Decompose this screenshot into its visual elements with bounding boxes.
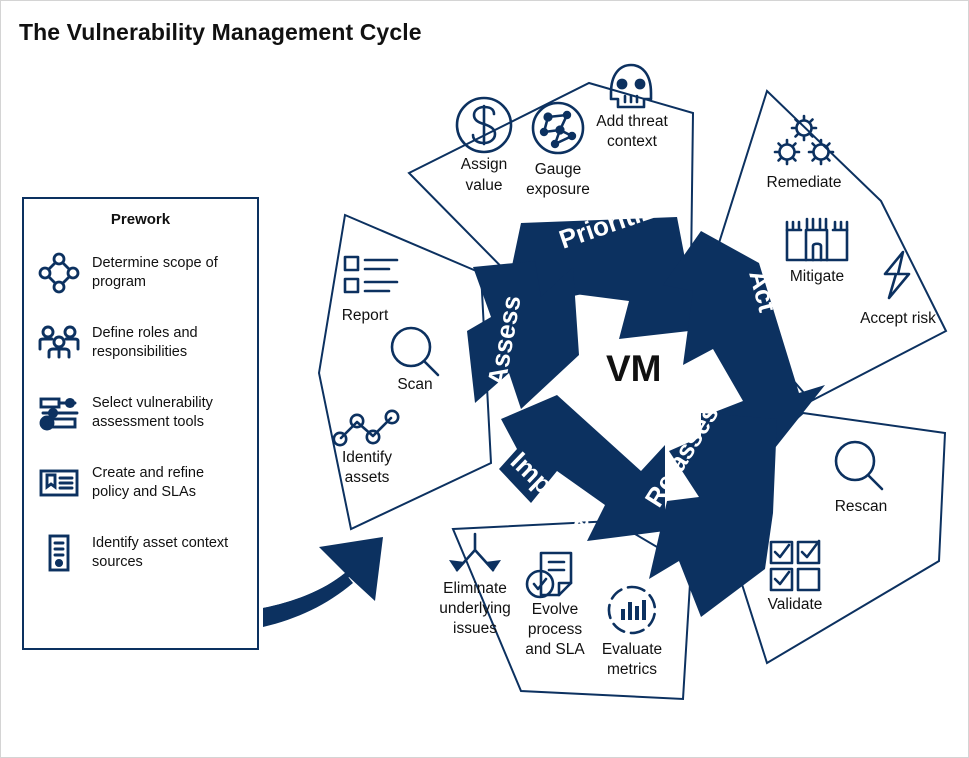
label-assign-value-line2: value bbox=[465, 177, 502, 194]
label-identify-assets-line1: Identify bbox=[342, 449, 392, 466]
prework-item-label: Determine scope of program bbox=[92, 254, 242, 292]
label-eliminate-line1: Eliminate bbox=[443, 580, 507, 597]
label-evolve-line1: Evolve bbox=[532, 601, 579, 618]
label-evaluate-line2: metrics bbox=[607, 661, 657, 678]
label-rescan: Rescan bbox=[835, 498, 888, 515]
label-identify-assets-line2: assets bbox=[345, 469, 390, 486]
sliders-tools-icon bbox=[36, 390, 82, 436]
prework-heading: Prework bbox=[24, 211, 257, 228]
prework-item-define-roles[interactable]: Define roles and responsibilities bbox=[24, 308, 257, 378]
server-rack-icon bbox=[36, 530, 82, 576]
label-remediate: Remediate bbox=[767, 174, 842, 191]
label-add-threat-line2: context bbox=[607, 133, 658, 150]
prework-panel: Prework Determine scope of program bbox=[22, 197, 259, 650]
policy-card-icon bbox=[36, 460, 82, 506]
skull-icon bbox=[611, 65, 651, 107]
blade-assess bbox=[467, 261, 579, 409]
label-assign-value-line1: Assign bbox=[461, 156, 508, 173]
label-report: Report bbox=[342, 307, 389, 324]
prework-item-label: Identify asset context sources bbox=[92, 534, 242, 572]
prework-item-label: Create and refine policy and SLAs bbox=[92, 464, 242, 502]
label-eliminate-line2: underlying bbox=[439, 600, 511, 617]
prework-item-select-tools[interactable]: Select vulnerability assessment tools bbox=[24, 378, 257, 448]
label-accept-risk: Accept risk bbox=[860, 310, 936, 327]
prework-item-label: Define roles and responsibilities bbox=[92, 324, 242, 362]
prework-item-identify-context[interactable]: Identify asset context sources bbox=[24, 518, 257, 588]
label-mitigate: Mitigate bbox=[790, 268, 844, 285]
prework-item-create-policy[interactable]: Create and refine policy and SLAs bbox=[24, 448, 257, 518]
label-eliminate-line3: issues bbox=[453, 620, 497, 637]
label-gauge-exposure-line1: Gauge bbox=[535, 161, 582, 178]
prework-list: Determine scope of program bbox=[24, 238, 257, 588]
label-evolve-line2: process bbox=[528, 621, 583, 638]
label-evaluate-line1: Evaluate bbox=[602, 641, 662, 658]
prework-item-determine-scope[interactable]: Determine scope of program bbox=[24, 238, 257, 308]
diagram-canvas: The Vulnerability Management Cycle Prior… bbox=[0, 0, 969, 758]
label-gauge-exposure-line2: exposure bbox=[526, 181, 590, 198]
center-label-vm: VM bbox=[606, 348, 662, 389]
prework-item-label: Select vulnerability assessment tools bbox=[92, 394, 242, 432]
label-validate: Validate bbox=[768, 596, 823, 613]
label-evolve-line3: and SLA bbox=[525, 641, 585, 658]
people-group-icon bbox=[36, 320, 82, 366]
label-scan: Scan bbox=[397, 376, 432, 393]
label-add-threat-line1: Add threat bbox=[596, 113, 668, 130]
network-nodes-icon bbox=[36, 250, 82, 296]
curved-arrow-icon bbox=[263, 537, 383, 627]
